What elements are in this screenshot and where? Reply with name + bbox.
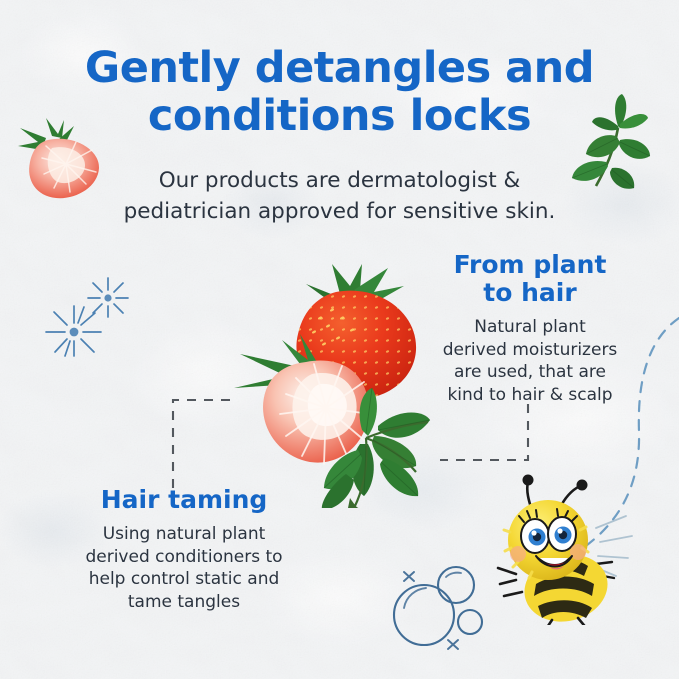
panel-body-line-4: kind to hair & scalp [430,384,630,407]
page-subheadline: Our products are dermatologist & pediatr… [0,166,679,227]
panel-body-line-3: help control static and [62,568,306,591]
panel-title-from-plant-to-hair: From plant to hair [430,251,630,307]
panel-body-hair-taming: Using natural plant derived conditioners… [62,523,306,613]
panel-body-line-4: tame tangles [62,591,306,614]
panel-body-line-2: derived conditioners to [62,546,306,569]
panel-title-line-1: Hair taming [62,486,306,514]
subhead-line-1: Our products are dermatologist & [96,166,583,197]
panel-body-line-3: are used, that are [430,361,630,384]
panel-body-line-1: Using natural plant [62,523,306,546]
feature-panel-from-plant-to-hair: From plant to hair Natural plant derived… [430,251,630,406]
panel-title-line-2: to hair [430,279,630,307]
panel-title-line-1: From plant [430,251,630,279]
feature-panel-hair-taming: Hair taming Using natural plant derived … [62,486,306,613]
panel-body-line-1: Natural plant [430,316,630,339]
page-headline: Gently detangles and conditions locks [0,44,679,140]
panel-body-line-2: derived moisturizers [430,339,630,362]
headline-line-2: conditions locks [52,92,627,140]
subhead-line-2: pediatrician approved for sensitive skin… [96,197,583,228]
panel-body-from-plant-to-hair: Natural plant derived moisturizers are u… [430,316,630,406]
panel-title-hair-taming: Hair taming [62,486,306,514]
headline-line-1: Gently detangles and [52,44,627,92]
